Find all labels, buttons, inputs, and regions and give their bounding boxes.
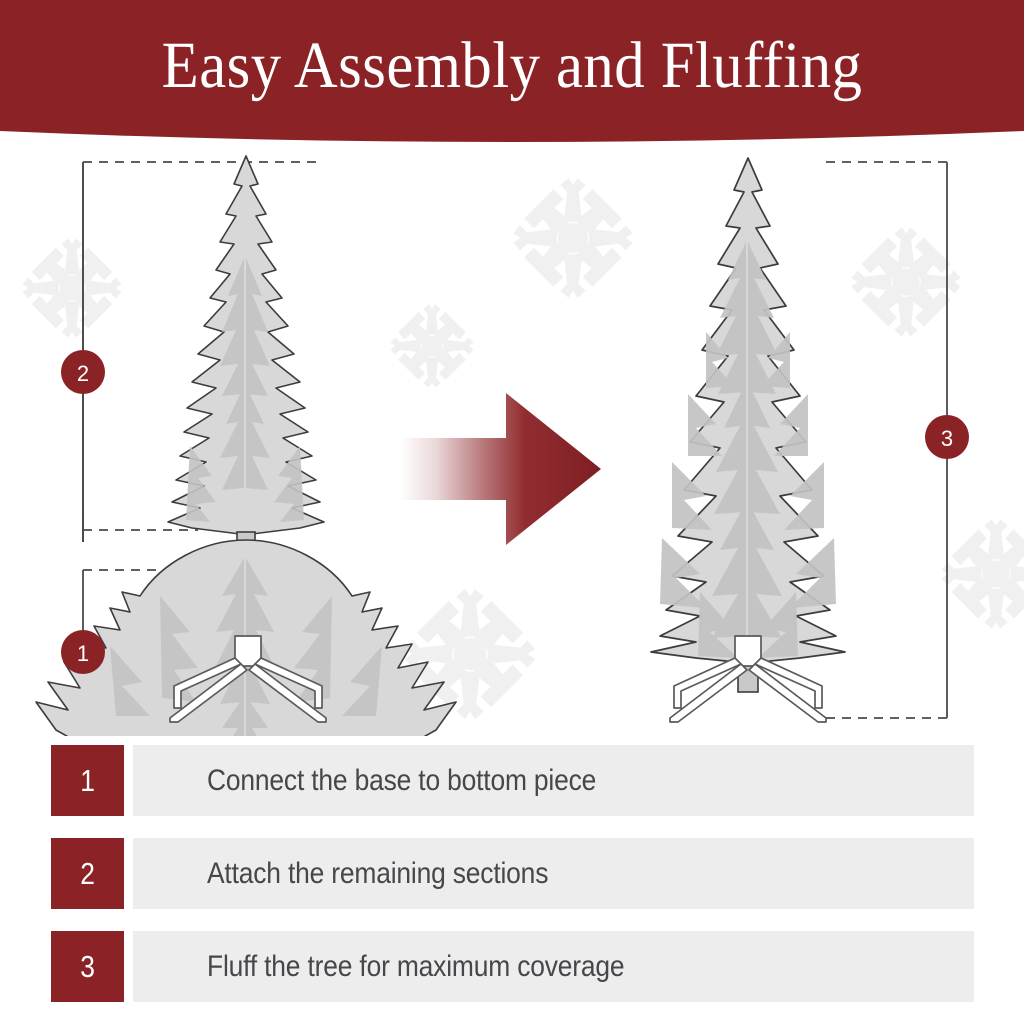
illustration-canvas: 2 1 3 — [0, 146, 1024, 736]
step-text-1: Connect the base to bottom piece — [207, 764, 596, 798]
bracket-marker-2[interactable]: 2 — [61, 350, 105, 394]
page-title: Easy Assembly and Fluffing — [41, 0, 983, 132]
step-bar-2: Attach the remaining sections — [133, 838, 974, 909]
step-list: 1 Connect the base to bottom piece 2 Att… — [0, 736, 1024, 1024]
assembly-illustration: 2 1 3 — [0, 146, 1024, 736]
step-number-badge-3: 3 — [51, 931, 124, 1002]
bracket-marker-2-label: 2 — [77, 361, 89, 386]
step-row-2[interactable]: 2 Attach the remaining sections — [51, 838, 974, 909]
snowflake-icon — [384, 298, 479, 393]
tree-top-section — [168, 156, 324, 576]
assembled-tree — [651, 158, 845, 692]
infographic-page: Easy Assembly and Fluffing — [0, 0, 1024, 1024]
snowflake-icon — [844, 220, 969, 345]
process-arrow — [400, 393, 601, 545]
step-text-2: Attach the remaining sections — [207, 857, 548, 891]
step-text-3: Fluff the tree for maximum coverage — [207, 950, 624, 984]
step-number-3: 3 — [80, 949, 95, 985]
step-bar-1: Connect the base to bottom piece — [133, 745, 974, 816]
snowflake-icon — [16, 232, 129, 345]
bracket-marker-1-label: 1 — [77, 641, 89, 666]
header-banner: Easy Assembly and Fluffing — [0, 0, 1024, 146]
step-bar-3: Fluff the tree for maximum coverage — [133, 931, 974, 1002]
bracket-marker-3[interactable]: 3 — [925, 415, 969, 459]
bracket-marker-1[interactable]: 1 — [61, 630, 105, 674]
snowflake-icon — [505, 170, 642, 307]
bracket-marker-3-label: 3 — [941, 426, 953, 451]
step-number-badge-2: 2 — [51, 838, 124, 909]
step-number-2: 2 — [80, 856, 95, 892]
step-row-1[interactable]: 1 Connect the base to bottom piece — [51, 745, 974, 816]
step-row-3[interactable]: 3 Fluff the tree for maximum coverage — [51, 931, 974, 1002]
step-number-1: 1 — [80, 763, 95, 799]
step-number-badge-1: 1 — [51, 745, 124, 816]
